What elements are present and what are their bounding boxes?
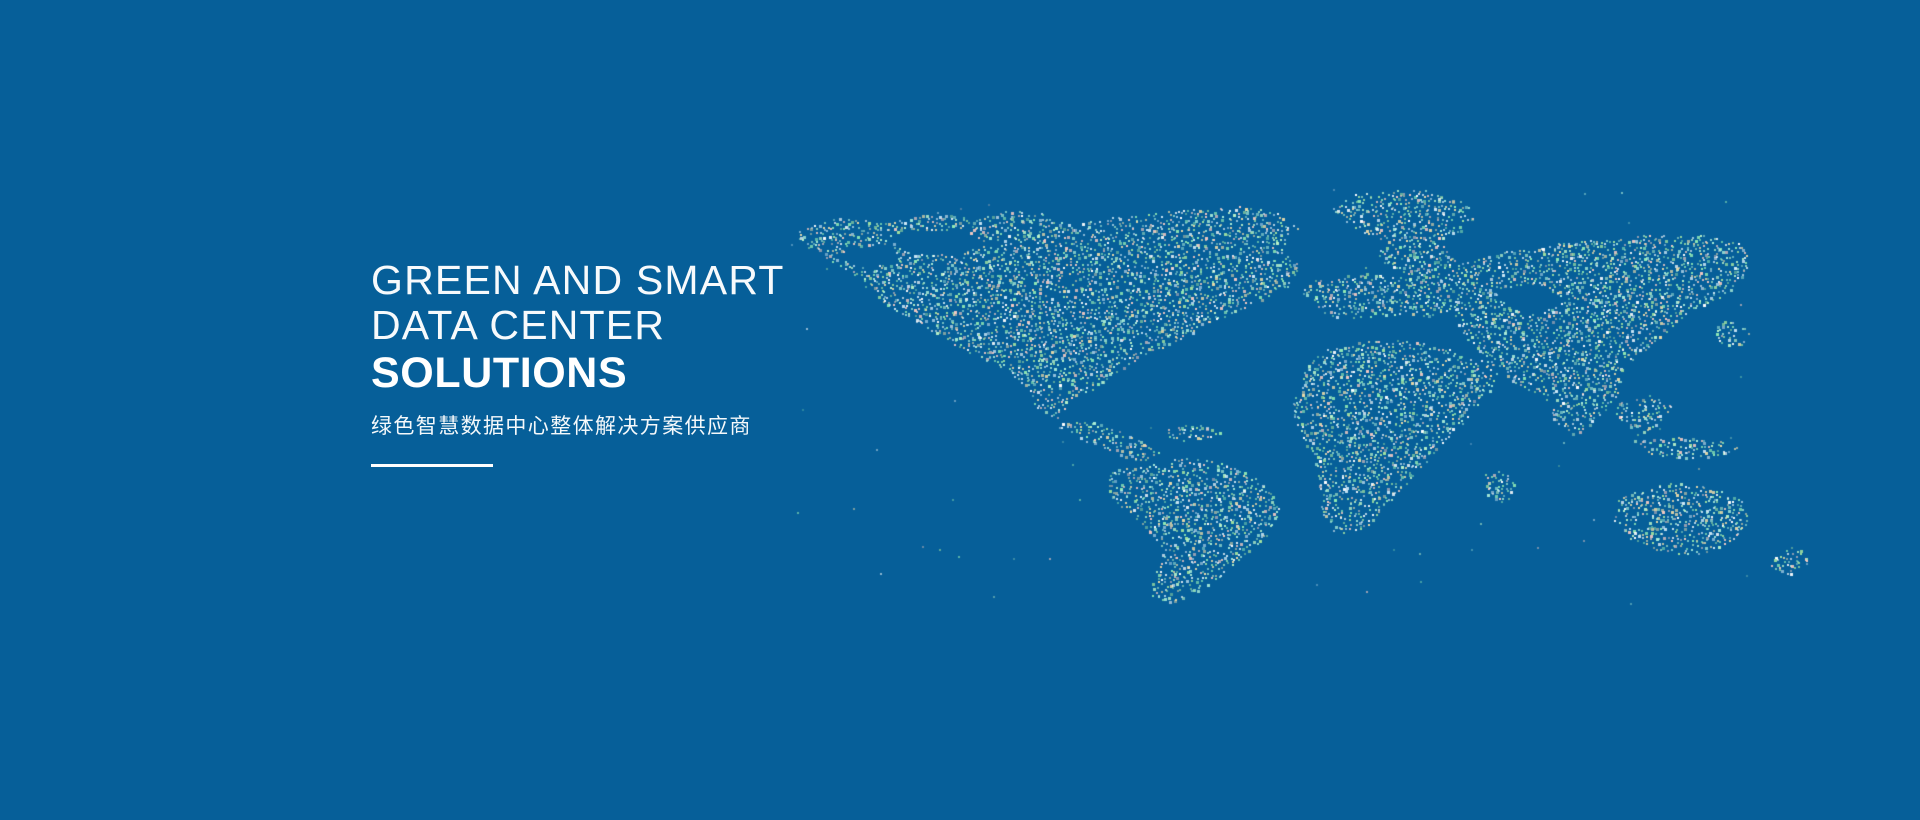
headline-line-1: GREEN AND SMART — [371, 258, 991, 303]
hero-subtitle: 绿色智慧数据中心整体解决方案供应商 — [371, 411, 991, 441]
headline-line-2: DATA CENTER — [371, 303, 991, 348]
hero-divider-rule — [371, 464, 493, 467]
headline-line-3: SOLUTIONS — [371, 349, 991, 397]
hero-text-block: GREEN AND SMART DATA CENTER SOLUTIONS 绿色… — [371, 258, 991, 467]
hero-banner: GREEN AND SMART DATA CENTER SOLUTIONS 绿色… — [0, 0, 1920, 820]
